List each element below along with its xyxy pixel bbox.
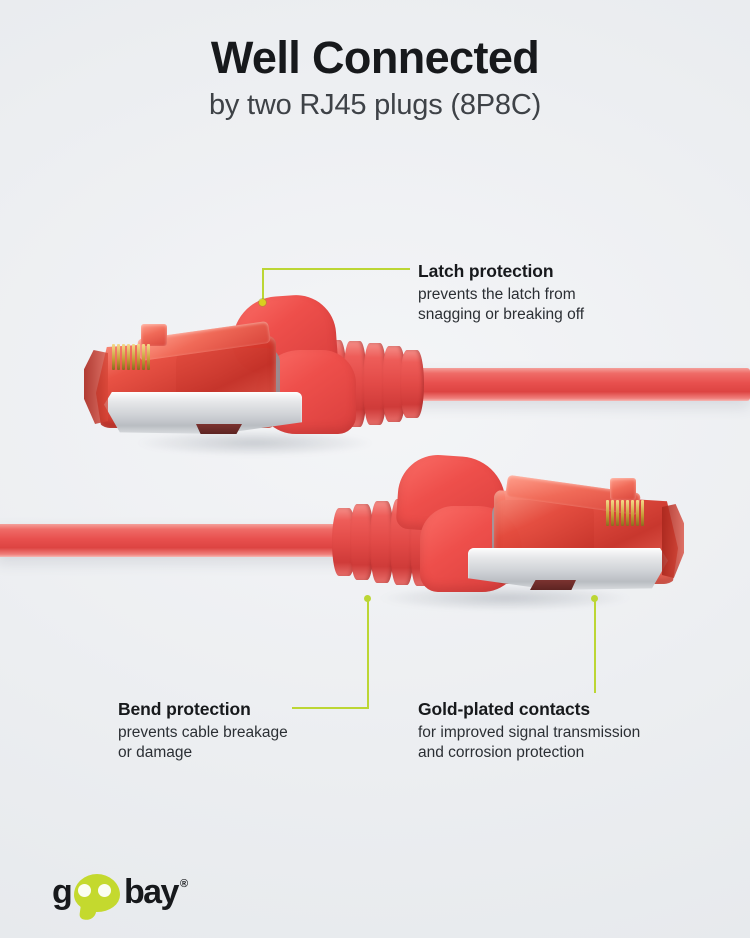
callout-bend-protection: Bend protection prevents cable breakage … — [118, 699, 288, 764]
callout-bend-body: prevents cable breakage or damage — [118, 723, 288, 764]
goobay-logo: g bay ® — [52, 872, 202, 912]
page-title: Well Connected — [0, 34, 750, 81]
callout-latch-heading: Latch protection — [418, 261, 584, 283]
logo-dot-left — [78, 884, 91, 897]
logo-wordmark-start: g — [52, 872, 71, 912]
leader-dot-bend — [364, 595, 371, 602]
leader-dot-gold — [591, 595, 598, 602]
callout-gold-plated-contacts: Gold-plated contacts for improved signal… — [418, 699, 640, 764]
logo-dot-right — [98, 884, 111, 897]
header: Well Connected by two RJ45 plugs (8P8C) — [0, 34, 750, 122]
shield-notch-bottom — [530, 580, 576, 590]
gold-contacts-bottom — [606, 500, 644, 526]
plug-tip-top — [84, 350, 108, 424]
page-subtitle: by two RJ45 plugs (8P8C) — [0, 90, 750, 122]
callout-gold-heading: Gold-plated contacts — [418, 699, 640, 721]
latch-tab-top — [141, 324, 167, 346]
logo-oo-dots — [78, 884, 111, 897]
callout-latch-protection: Latch protection prevents the latch from… — [418, 261, 584, 326]
plug-tip-bottom — [662, 504, 684, 578]
poster-canvas: Well Connected by two RJ45 plugs (8P8C) — [0, 0, 750, 938]
shield-notch-top — [196, 424, 242, 434]
registered-trademark-icon: ® — [180, 878, 188, 890]
latch-tab-bottom — [610, 478, 636, 500]
callout-latch-body: prevents the latch from snagging or brea… — [418, 285, 584, 326]
callout-bend-heading: Bend protection — [118, 699, 288, 721]
callout-gold-body: for improved signal transmission and cor… — [418, 723, 640, 764]
cable-bottom — [0, 524, 368, 557]
logo-wordmark-end: bay — [124, 872, 178, 912]
leader-dot-latch — [259, 299, 266, 306]
gold-contacts-top — [112, 344, 150, 370]
